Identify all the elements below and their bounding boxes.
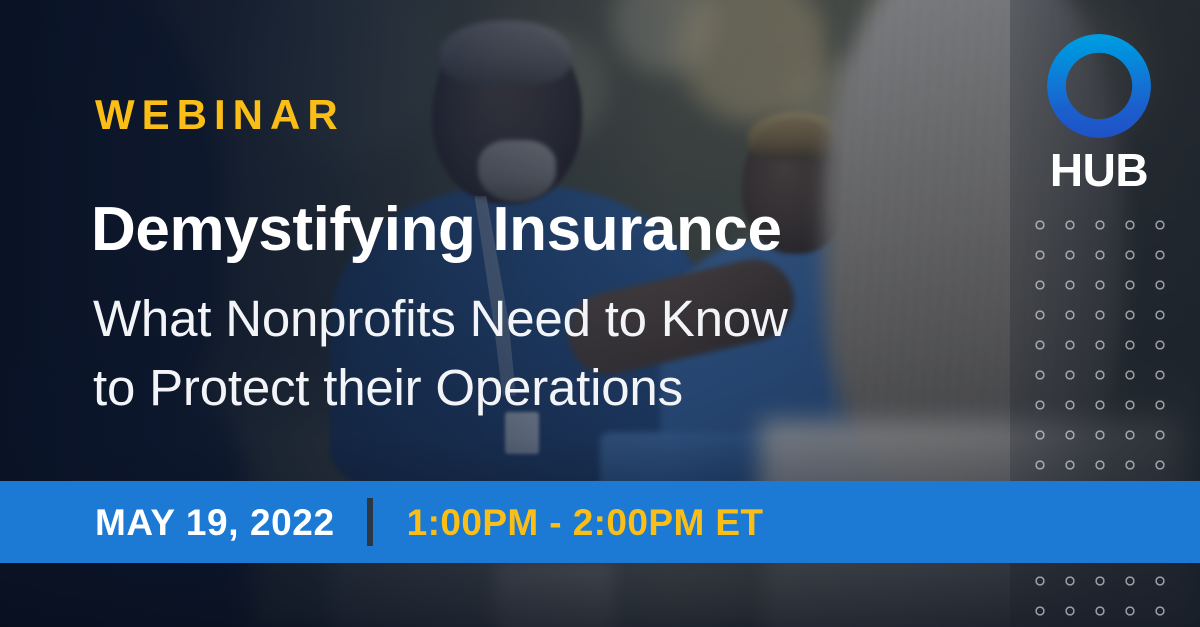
bar-divider — [367, 498, 373, 546]
ring-logo-icon — [1047, 34, 1151, 138]
subtitle-line-1: What Nonprofits Need to Know — [93, 293, 788, 344]
ring-dot-grid-icon — [1025, 210, 1175, 482]
eyebrow-label: WEBINAR — [95, 94, 345, 136]
date-time-bar: MAY 19, 2022 1:00PM - 2:00PM ET — [0, 481, 1200, 563]
subtitle-line-2: to Protect their Operations — [93, 362, 683, 413]
webinar-promo-banner: HUB WEBINAR Demystifying Insurance What … — [0, 0, 1200, 627]
hub-logo: HUB — [1040, 34, 1158, 193]
ring-dot-grid-bottom-icon — [1025, 566, 1175, 627]
page-title: Demystifying Insurance — [91, 199, 782, 261]
hub-wordmark: HUB — [1050, 147, 1148, 193]
event-time: 1:00PM - 2:00PM ET — [407, 504, 764, 541]
event-date: MAY 19, 2022 — [95, 504, 335, 541]
